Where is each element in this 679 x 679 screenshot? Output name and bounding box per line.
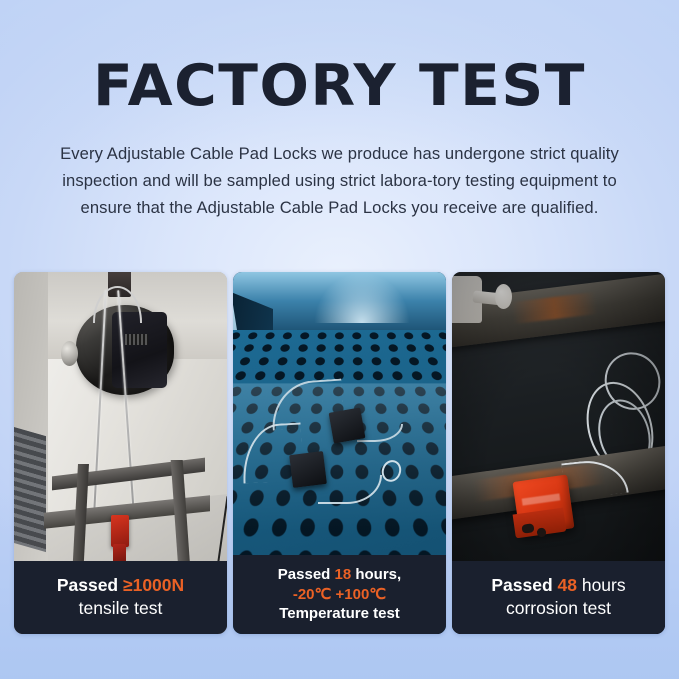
caption-text: hours,	[351, 566, 401, 583]
caption-text: hours	[577, 575, 626, 595]
panel-corrosion-test[interactable]: Passed 48 hours corrosion test	[452, 272, 665, 634]
caption-accent: 48	[558, 575, 577, 595]
caption-corrosion-test: Passed 48 hours corrosion test	[452, 561, 665, 634]
header: FACTORY TEST Every Adjustable Cable Pad …	[0, 58, 679, 222]
caption-line: corrosion test	[458, 597, 659, 619]
test-panel-row: Passed ≥1000N tensile test	[14, 272, 665, 634]
page-description: Every Adjustable Cable Pad Locks we prod…	[40, 141, 640, 222]
caption-line: Passed 48 hours	[458, 574, 659, 596]
caption-line: Temperature test	[239, 604, 440, 623]
factory-test-infographic: FACTORY TEST Every Adjustable Cable Pad …	[0, 0, 679, 679]
panel-temperature-test[interactable]: Passed 18 hours, -20℃ +100℃ Temperature …	[233, 272, 446, 634]
caption-text: Passed	[491, 575, 557, 595]
caption-text: Temperature test	[279, 605, 400, 622]
caption-accent: 18	[335, 566, 352, 583]
caption-tensile-test: Passed ≥1000N tensile test	[14, 561, 227, 634]
caption-text: Passed	[278, 566, 335, 583]
page-title: FACTORY TEST	[0, 58, 679, 115]
caption-line: Passed 18 hours,	[239, 565, 440, 584]
caption-text: tensile test	[79, 598, 163, 618]
caption-accent: ≥1000N	[123, 575, 184, 595]
caption-line: -20℃ +100℃	[239, 585, 440, 604]
caption-line: tensile test	[20, 597, 221, 619]
caption-text: Passed	[57, 575, 123, 595]
panel-tensile-test[interactable]: Passed ≥1000N tensile test	[14, 272, 227, 634]
caption-accent: -20℃ +100℃	[293, 586, 386, 603]
caption-text: corrosion test	[506, 598, 611, 618]
caption-line: Passed ≥1000N	[20, 574, 221, 596]
caption-temperature-test: Passed 18 hours, -20℃ +100℃ Temperature …	[233, 555, 446, 634]
